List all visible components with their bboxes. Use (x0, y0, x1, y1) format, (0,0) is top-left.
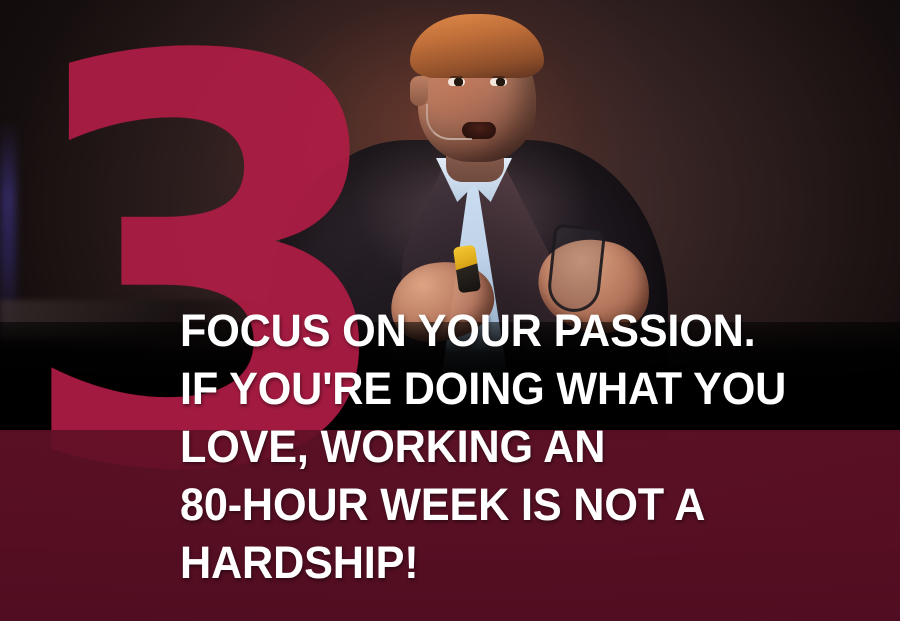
quote-line-4: 80-HOUR WEEK IS NOT A (180, 476, 864, 534)
quote-line-1: FOCUS ON YOUR PASSION. (180, 302, 864, 360)
quote-line-5: HARDSHIP! (180, 534, 864, 592)
speaker-eye-right (490, 78, 507, 86)
speaker-hair (410, 14, 544, 78)
quote-text-block: FOCUS ON YOUR PASSION. IF YOU'RE DOING W… (180, 302, 892, 592)
quote-card: 3 FOCUS ON YOUR PASSION. IF YOU'RE DOING… (0, 0, 900, 621)
speaker-ear (410, 76, 428, 106)
quote-line-3: LOVE, WORKING AN (180, 418, 864, 476)
speaker-eye-left (448, 78, 465, 86)
quote-line-2: IF YOU'RE DOING WHAT YOU (180, 360, 864, 418)
